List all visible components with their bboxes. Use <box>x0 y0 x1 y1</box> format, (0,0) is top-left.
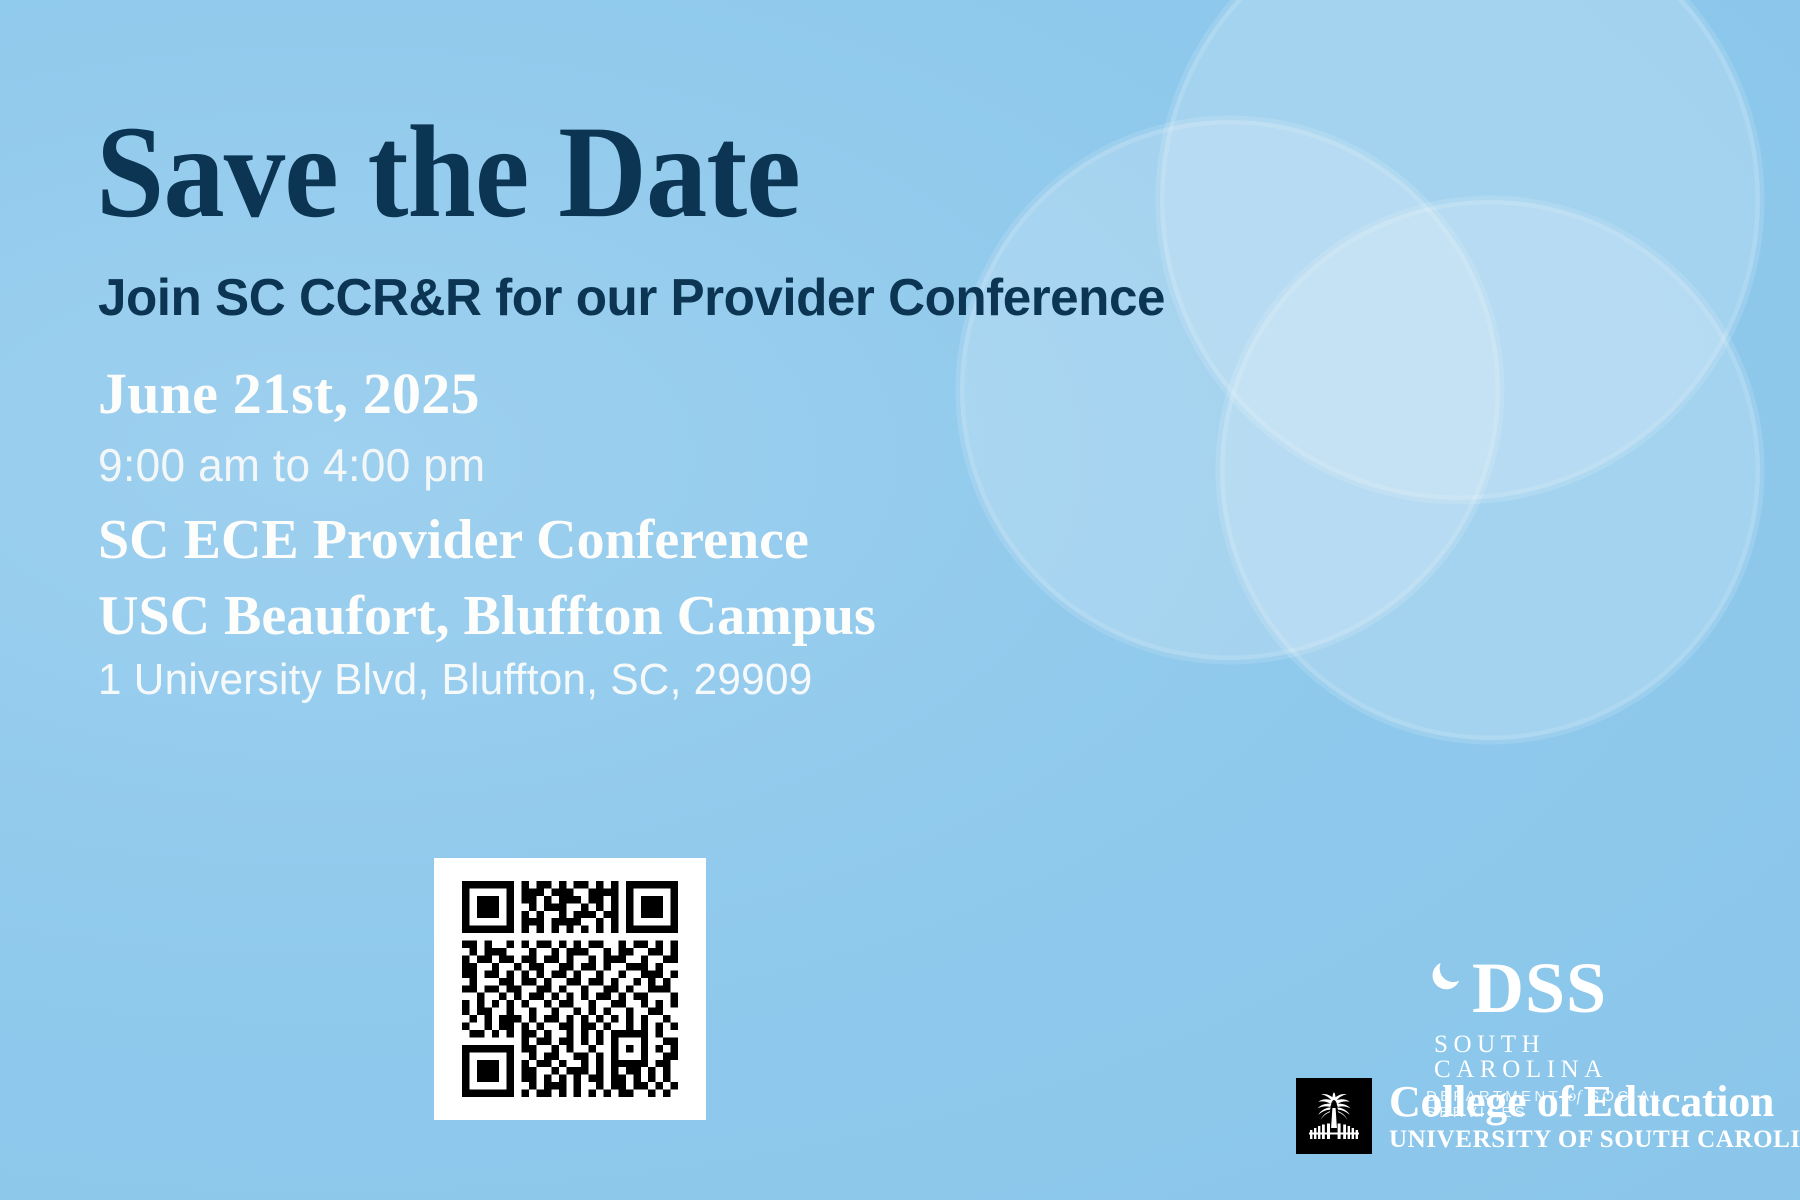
event-address: 1 University Blvd, Bluffton, SC, 29909 <box>98 658 813 702</box>
college-of-education-text: College of Education UNIVERSITY OF SOUTH… <box>1389 1078 1800 1152</box>
save-the-date-flyer: Save the Date Join SC CCR&R for our Prov… <box>0 0 1800 1200</box>
event-time: 9:00 am to 4:00 pm <box>98 442 485 488</box>
qr-code[interactable] <box>434 858 706 1120</box>
college-name: College of Education <box>1389 1080 1800 1125</box>
qr-code-image <box>462 881 678 1097</box>
dss-acronym: DSS <box>1472 952 1607 1024</box>
palmetto-tree-icon <box>1304 1086 1364 1146</box>
event-venue: USC Beaufort, Bluffton Campus <box>98 588 876 644</box>
dss-state-line: SOUTH CAROLINA <box>1434 1032 1720 1082</box>
crescent-moon-icon <box>1432 958 1466 992</box>
university-name: UNIVERSITY OF SOUTH CAROLINA <box>1389 1127 1800 1152</box>
subtitle: Join SC CCR&R for our Provider Conferenc… <box>98 272 1165 324</box>
page-title: Save the Date <box>96 106 800 238</box>
college-of-education-logo: College of Education UNIVERSITY OF SOUTH… <box>1296 1078 1800 1154</box>
palmetto-logo-mark <box>1296 1078 1372 1154</box>
event-date: June 21st, 2025 <box>98 365 480 423</box>
event-name: SC ECE Provider Conference <box>98 512 809 568</box>
dss-logo-top: DSS <box>1420 958 1720 1030</box>
